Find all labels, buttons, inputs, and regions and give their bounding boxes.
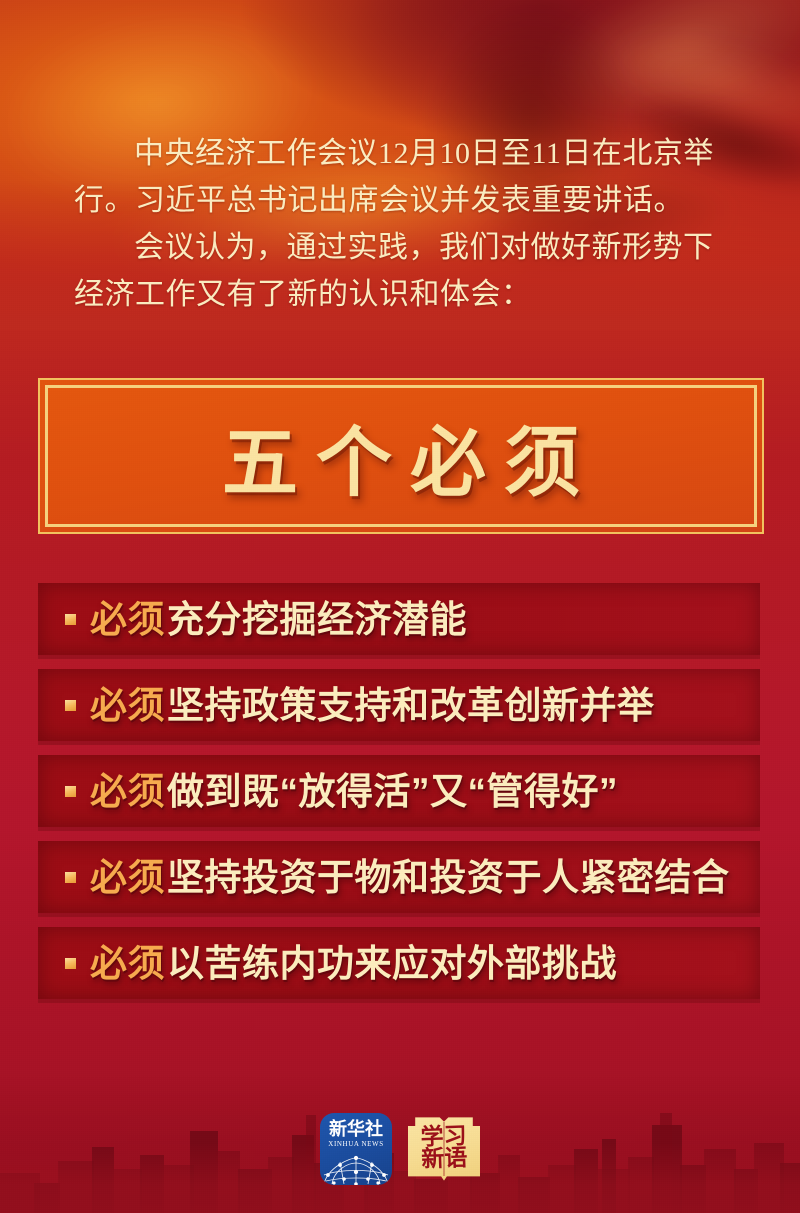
footer-logos: 新华社 XINHUA NEWS [0,1113,800,1185]
headline-title: 五个必须 [204,401,598,511]
xuexi-xinyu-logo[interactable]: 学习新语 [408,1113,480,1185]
xuexi-logo-text: 学习新语 [418,1125,470,1171]
xuexi-logo-line2: 新语 [421,1145,468,1172]
list-item: 必须坚持投资于物和投资于人紧密结合 [38,841,760,913]
list-item-prefix: 必须 [90,857,165,898]
list-item-text: 必须做到既“放得活”又“管得好” [90,773,618,810]
requirements-list: 必须充分挖掘经济潜能 必须坚持政策支持和改革创新并举 必须做到既“放得活”又“管… [38,583,760,1013]
list-item-text: 必须充分挖掘经济潜能 [90,601,467,638]
list-item-rest: 做到既“放得活”又“管得好” [167,771,618,812]
list-item-rest: 以苦练内功来应对外部挑战 [167,943,617,984]
xinhua-logo-cn-text: 新华社 [329,1120,383,1138]
network-dome-icon [320,1153,392,1185]
list-item: 必须充分挖掘经济潜能 [38,583,760,655]
list-item-prefix: 必须 [90,685,165,726]
lede-paragraph-1: 中央经济工作会议12月10日至11日在北京举行。习近平总书记出席会议并发表重要讲… [74,130,734,224]
xinhua-logo-en-text: XINHUA NEWS [328,1141,383,1148]
xinhua-news-logo[interactable]: 新华社 XINHUA NEWS [320,1113,392,1185]
list-item-rest: 充分挖掘经济潜能 [167,599,467,640]
lede-paragraphs: 中央经济工作会议12月10日至11日在北京举行。习近平总书记出席会议并发表重要讲… [74,130,734,318]
square-bullet-icon [65,614,76,625]
headline-box-inner-border: 五个必须 [45,385,757,527]
square-bullet-icon [65,958,76,969]
list-item-prefix: 必须 [90,599,165,640]
headline-box: 五个必须 [38,378,764,534]
square-bullet-icon [65,872,76,883]
list-item: 必须坚持政策支持和改革创新并举 [38,669,760,741]
lede-paragraph-2: 会议认为，通过实践，我们对做好新形势下经济工作又有了新的认识和体会： [74,224,734,318]
square-bullet-icon [65,700,76,711]
list-item-rest: 坚持投资于物和投资于人紧密结合 [167,857,730,898]
list-item: 必须以苦练内功来应对外部挑战 [38,927,760,999]
list-item-rest: 坚持政策支持和改革创新并举 [167,685,655,726]
list-item-text: 必须以苦练内功来应对外部挑战 [90,945,617,982]
square-bullet-icon [65,786,76,797]
list-item-text: 必须坚持投资于物和投资于人紧密结合 [90,859,730,896]
list-item-text: 必须坚持政策支持和改革创新并举 [90,687,655,724]
list-item-prefix: 必须 [90,771,165,812]
poster-root: 中央经济工作会议12月10日至11日在北京举行。习近平总书记出席会议并发表重要讲… [0,0,800,1213]
list-item-prefix: 必须 [90,943,165,984]
list-item: 必须做到既“放得活”又“管得好” [38,755,760,827]
